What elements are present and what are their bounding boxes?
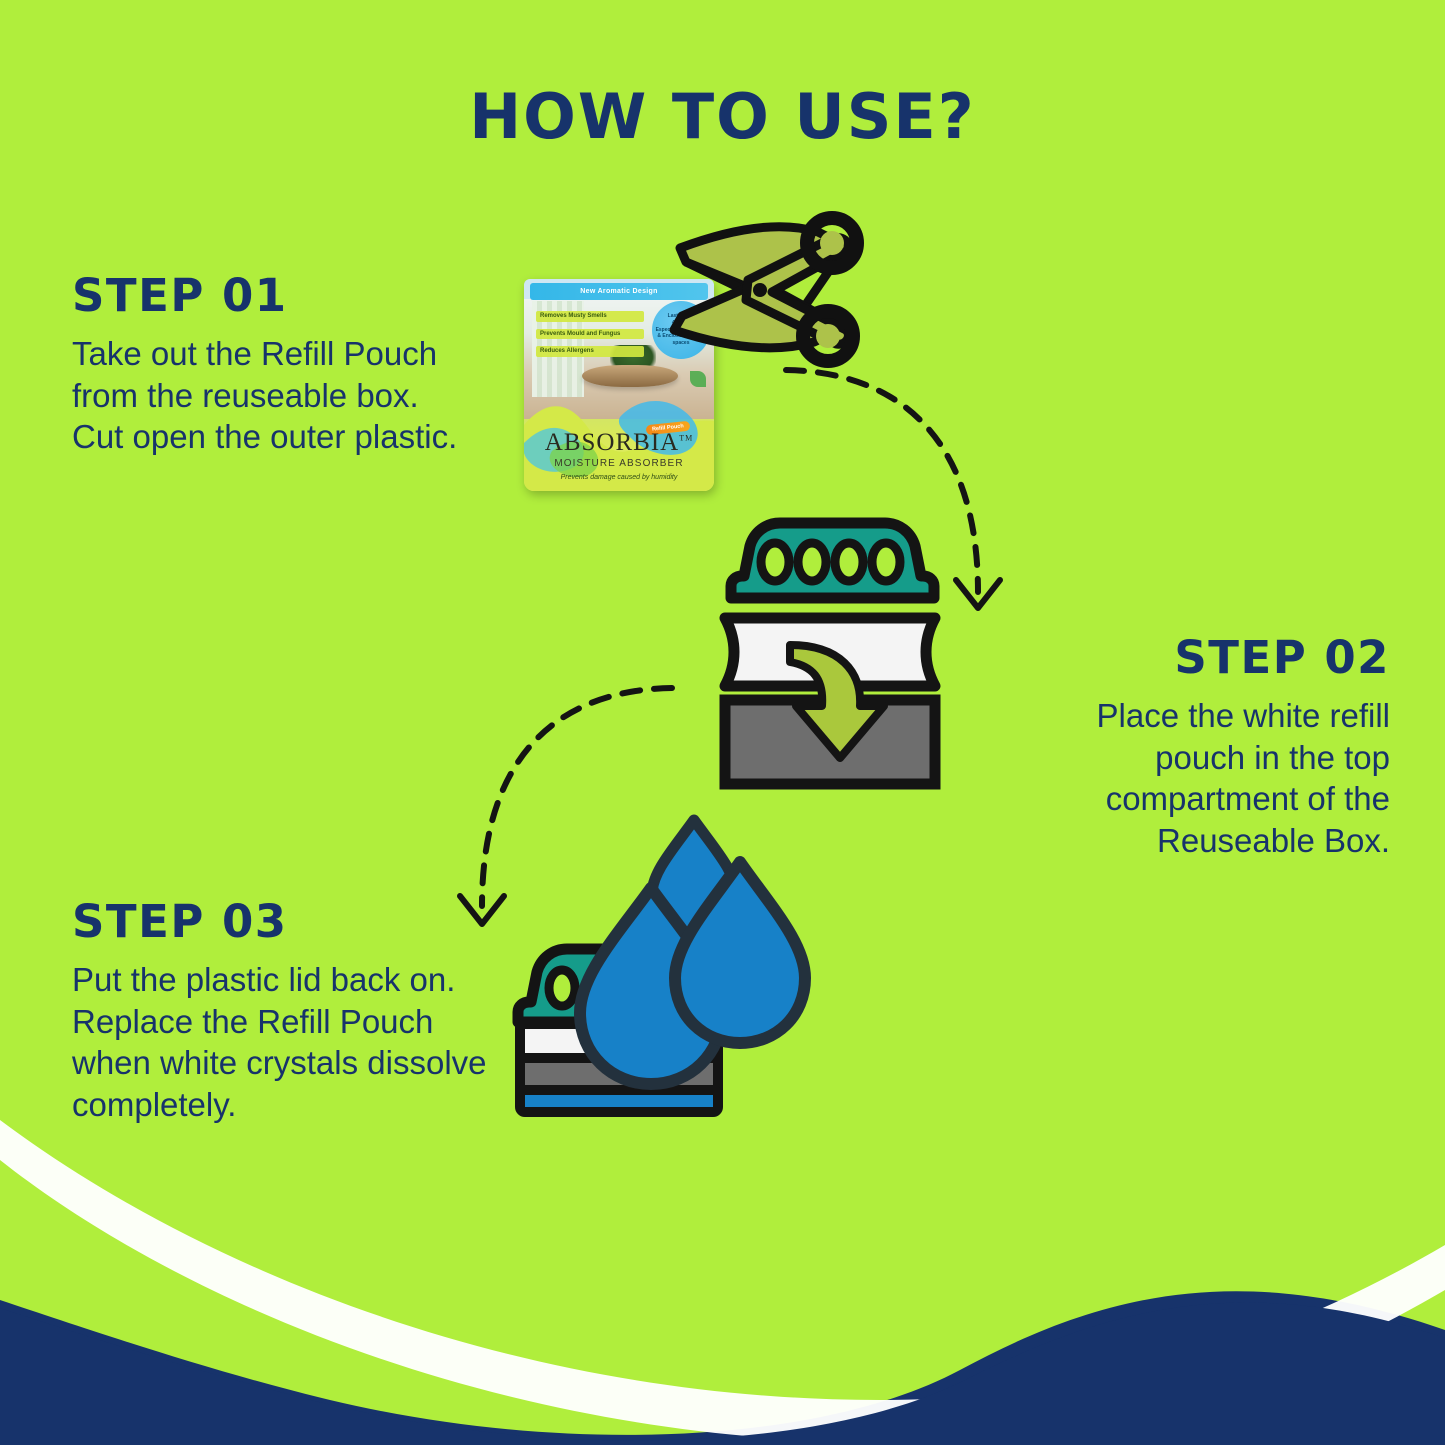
page-title: HOW TO USE? — [0, 86, 1445, 148]
step-02-block: STEP 02 Place the white refill pouch in … — [1000, 634, 1390, 862]
infographic-canvas: HOW TO USE? STEP 01 Take out the Refill … — [0, 0, 1445, 1445]
navy-wave-shape — [0, 1291, 1445, 1445]
step-03-heading: STEP 03 — [72, 898, 542, 945]
step-01-block: STEP 01 Take out the Refill Pouch from t… — [72, 272, 542, 458]
pouch-duration-badge: Lasts up to 45 days Especially for Offic… — [652, 301, 710, 359]
arrow-step1-to-step2-icon — [786, 370, 1000, 608]
pouch-lasts-label: Lasts up to — [668, 313, 695, 320]
pouch-benefit-item: Reduces Allergens — [536, 346, 644, 357]
step-02-body: Place the white refill pouch in the top … — [1000, 695, 1390, 861]
step-01-heading: STEP 01 — [72, 272, 542, 319]
pouch-benefit-list: Removes Musty Smells Prevents Mould and … — [536, 311, 644, 364]
pouch-top-banner: New Aromatic Design — [530, 283, 708, 300]
step-02-heading: STEP 02 — [1000, 634, 1390, 681]
water-drop-icon — [675, 862, 805, 1043]
product-pouch-image: New Aromatic Design Removes Musty Smells… — [524, 279, 714, 491]
arrow-step2-to-step3-icon — [460, 688, 672, 924]
pouch-use-note: Especially for Offices & Enclosed Storag… — [655, 327, 707, 347]
white-swoosh-shape — [0, 1120, 1445, 1442]
pouch-tagline: Prevents damage caused by humidity — [524, 474, 714, 481]
pouch-room-table — [582, 365, 678, 387]
pouch-brand-name: ABSORBIATM — [524, 429, 714, 457]
insert-curved-arrow-icon — [790, 645, 884, 758]
gray-box-icon — [725, 700, 935, 784]
navy-wave-shape-front — [0, 1303, 1445, 1445]
pouch-lasts-value: 45 days — [672, 320, 690, 327]
step-01-body: Take out the Refill Pouch from the reuse… — [72, 333, 542, 458]
pouch-brand-tm: TM — [679, 434, 693, 443]
water-drop-icon — [580, 888, 722, 1084]
water-drop-icon — [652, 820, 736, 936]
leaf-icon — [690, 371, 706, 387]
box-lid-icon — [731, 523, 934, 598]
closed-box-icon — [518, 949, 721, 1112]
pouch-subtitle: MOISTURE ABSORBER — [524, 458, 714, 469]
white-refill-pouch-icon — [725, 618, 935, 686]
step-03-block: STEP 03 Put the plastic lid back on. Rep… — [72, 898, 542, 1126]
pouch-benefit-item: Removes Musty Smells — [536, 311, 644, 322]
pouch-benefit-item: Prevents Mould and Fungus — [536, 329, 644, 340]
step-03-body: Put the plastic lid back on. Replace the… — [72, 959, 542, 1125]
